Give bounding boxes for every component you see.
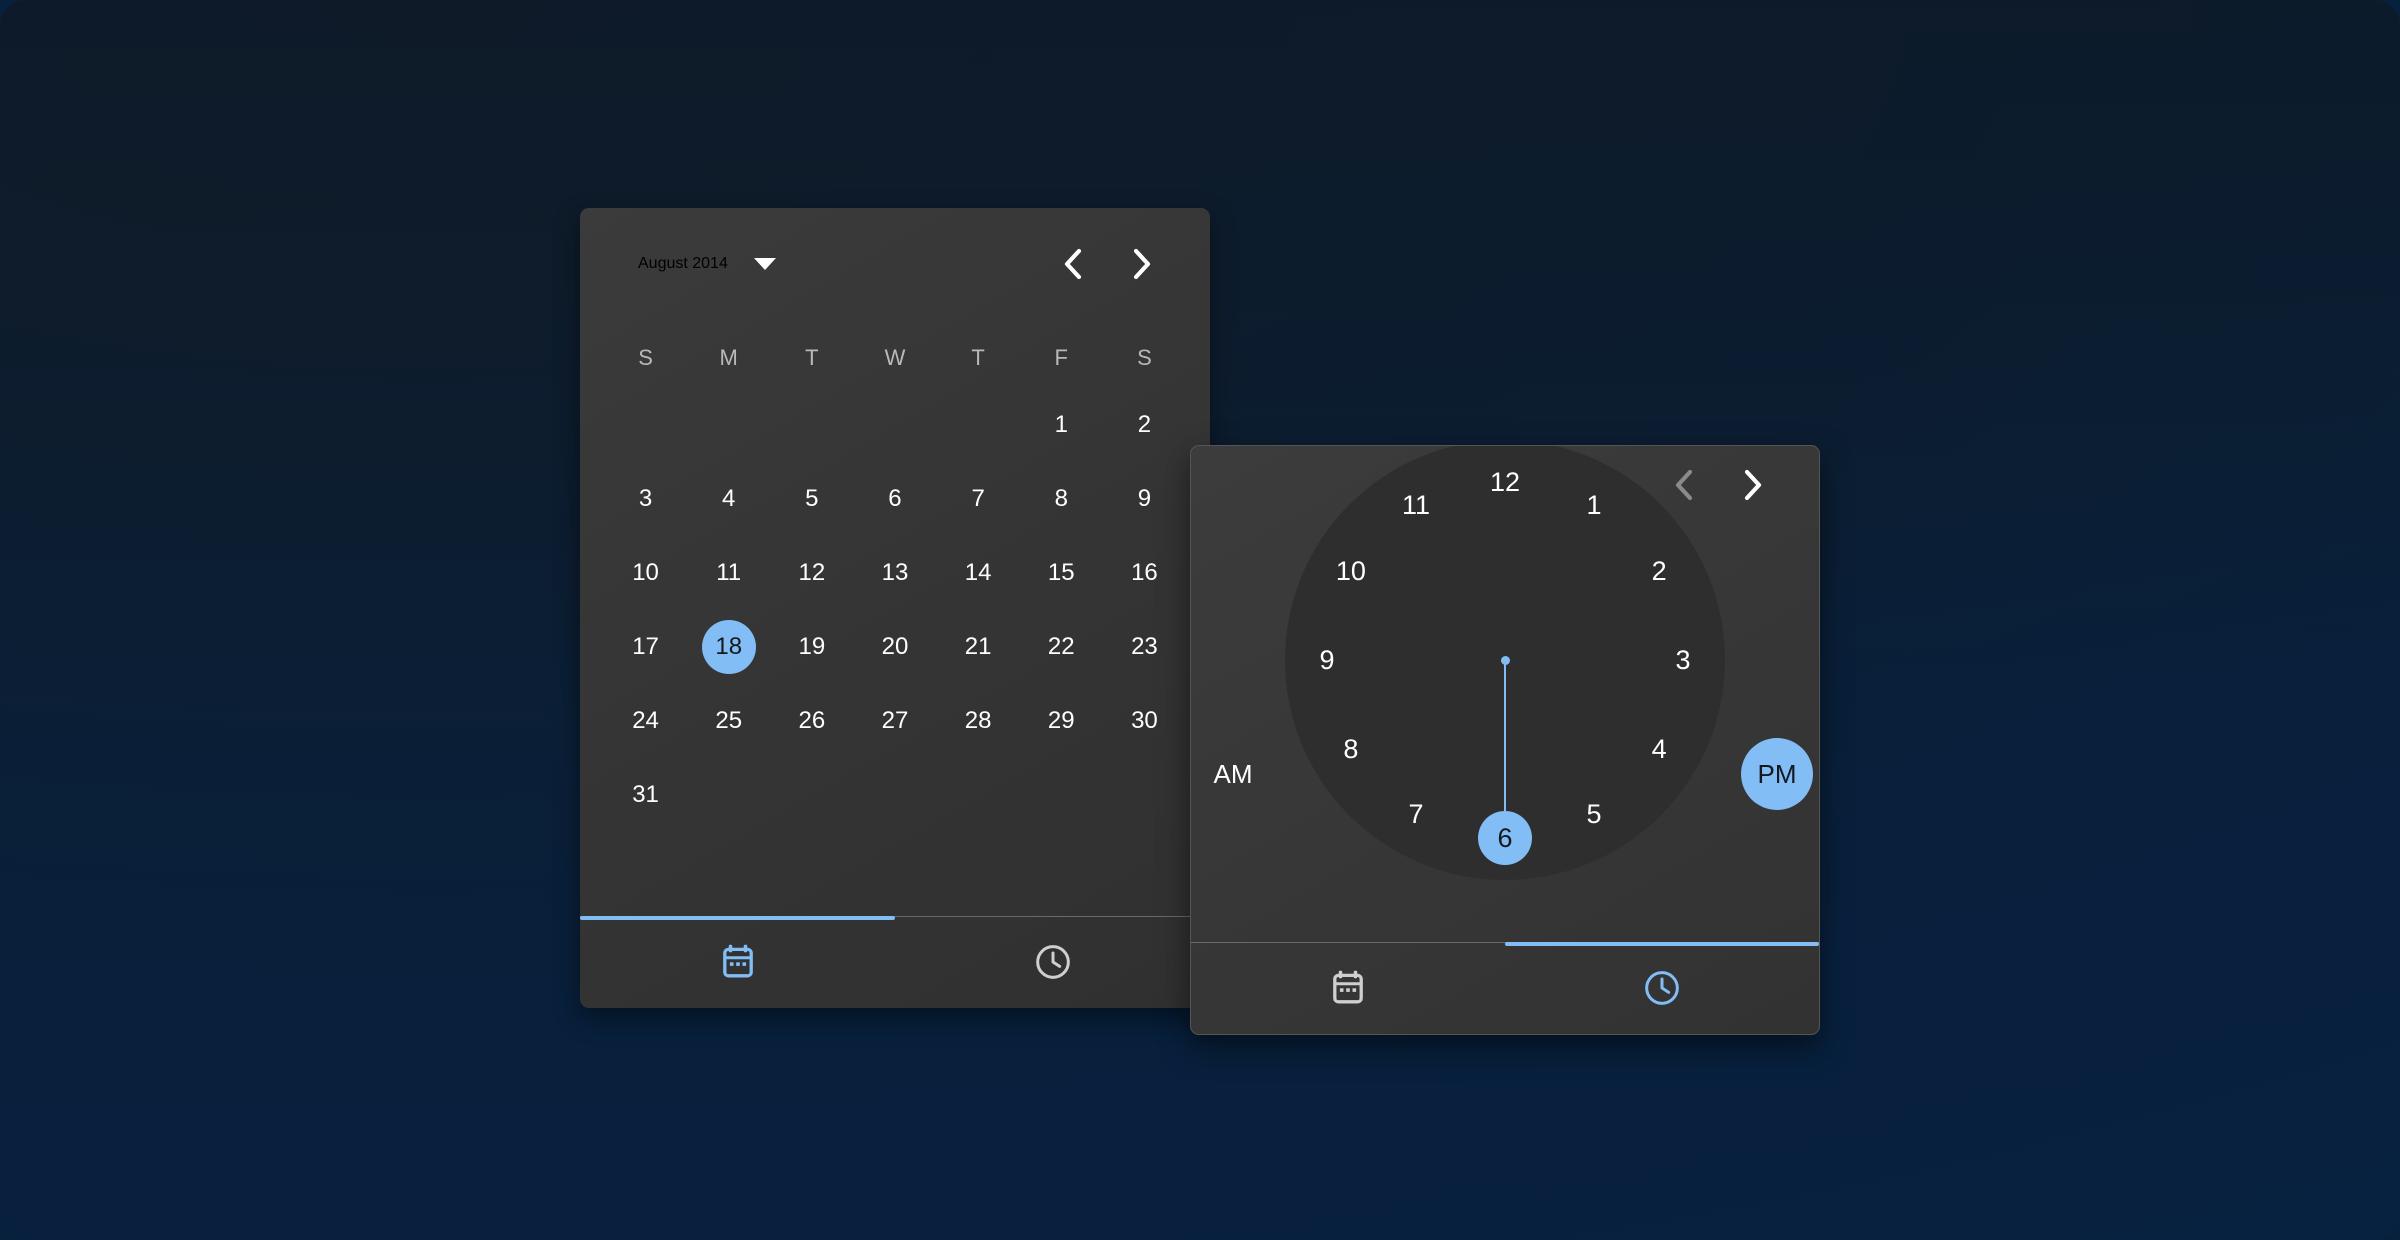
clock-icon bbox=[1642, 968, 1682, 1008]
date-picker-header: August 2014 bbox=[580, 208, 1210, 320]
calendar-day-empty bbox=[687, 388, 770, 462]
clock-hour-2[interactable]: 2 bbox=[1632, 544, 1686, 598]
clock-hour-5[interactable]: 5 bbox=[1567, 787, 1621, 841]
clock-hour-7[interactable]: 7 bbox=[1389, 787, 1443, 841]
calendar-day-label: 30 bbox=[1117, 694, 1171, 748]
calendar-day-label: 28 bbox=[951, 694, 1005, 748]
weekday-label-5: F bbox=[1020, 336, 1103, 380]
calendar-day-label: 22 bbox=[1034, 620, 1088, 674]
calendar-day[interactable]: 3 bbox=[604, 462, 687, 536]
calendar-day[interactable]: 25 bbox=[687, 684, 770, 758]
calendar-day-label: 29 bbox=[1034, 694, 1088, 748]
calendar-day-empty bbox=[853, 388, 936, 462]
clock-dial-area: 121234567891011 AM PM bbox=[1191, 446, 1819, 942]
calendar-day[interactable]: 28 bbox=[937, 684, 1020, 758]
calendar-day[interactable]: 12 bbox=[770, 536, 853, 610]
calendar-day[interactable]: 8 bbox=[1020, 462, 1103, 536]
calendar-day-label: 17 bbox=[619, 620, 673, 674]
calendar-icon bbox=[1330, 969, 1366, 1007]
calendar-day[interactable]: 31 bbox=[604, 758, 687, 832]
tab-time[interactable] bbox=[1505, 942, 1819, 1034]
tab-active-indicator bbox=[580, 916, 895, 920]
clock-hour-9[interactable]: 9 bbox=[1300, 633, 1354, 687]
calendar-day-empty bbox=[604, 388, 687, 462]
calendar-day-grid: 1234567891011121314151617181920212223242… bbox=[604, 388, 1186, 832]
calendar-day-label: 4 bbox=[702, 472, 756, 526]
calendar-day[interactable]: 14 bbox=[937, 536, 1020, 610]
am-button[interactable]: AM bbox=[1197, 738, 1269, 810]
calendar-day[interactable]: 22 bbox=[1020, 610, 1103, 684]
calendar-day-label: 21 bbox=[951, 620, 1005, 674]
pm-button[interactable]: PM bbox=[1741, 738, 1813, 810]
calendar-day[interactable]: 4 bbox=[687, 462, 770, 536]
calendar-day[interactable]: 24 bbox=[604, 684, 687, 758]
weekday-header-row: SMTWTFS bbox=[604, 336, 1186, 380]
weekday-label-3: W bbox=[853, 336, 936, 380]
month-year-label[interactable]: August 2014 bbox=[638, 255, 728, 273]
calendar-day-label: 31 bbox=[619, 768, 673, 822]
caret-down-icon[interactable] bbox=[754, 258, 776, 270]
clock-hour-1[interactable]: 1 bbox=[1567, 479, 1621, 533]
weekday-label-1: M bbox=[687, 336, 770, 380]
calendar-day-label: 1 bbox=[1034, 398, 1088, 452]
calendar-day[interactable]: 16 bbox=[1103, 536, 1186, 610]
chevron-right-icon bbox=[1740, 468, 1764, 502]
weekday-label-4: T bbox=[937, 336, 1020, 380]
calendar-day-label: 14 bbox=[951, 546, 1005, 600]
calendar-day-label: 8 bbox=[1034, 472, 1088, 526]
date-panel-tabbar bbox=[580, 916, 1210, 1008]
calendar-day[interactable]: 2 bbox=[1103, 388, 1186, 462]
calendar-day-label: 9 bbox=[1117, 472, 1171, 526]
calendar-day[interactable]: 5 bbox=[770, 462, 853, 536]
calendar-day[interactable]: 13 bbox=[853, 536, 936, 610]
calendar-day[interactable]: 20 bbox=[853, 610, 936, 684]
calendar-day-label: 18 bbox=[702, 620, 756, 674]
calendar-day[interactable]: 10 bbox=[604, 536, 687, 610]
calendar-day-label: 15 bbox=[1034, 546, 1088, 600]
calendar-day-label: 3 bbox=[619, 472, 673, 526]
calendar-day-label: 16 bbox=[1117, 546, 1171, 600]
calendar-day-label: 13 bbox=[868, 546, 922, 600]
am-label: AM bbox=[1214, 759, 1253, 790]
next-month-button[interactable] bbox=[1114, 237, 1168, 291]
calendar-day-label: 6 bbox=[868, 472, 922, 526]
calendar-day[interactable]: 7 bbox=[937, 462, 1020, 536]
calendar-day-empty bbox=[937, 388, 1020, 462]
calendar-day[interactable]: 9 bbox=[1103, 462, 1186, 536]
calendar-day[interactable]: 21 bbox=[937, 610, 1020, 684]
calendar-day-label: 27 bbox=[868, 694, 922, 748]
calendar-day[interactable]: 23 bbox=[1103, 610, 1186, 684]
calendar-day-label: 2 bbox=[1117, 398, 1171, 452]
clock-hour-12[interactable]: 12 bbox=[1478, 455, 1532, 509]
clock-hour-3[interactable]: 3 bbox=[1656, 633, 1710, 687]
calendar-day[interactable]: 26 bbox=[770, 684, 853, 758]
time-panel-tabbar bbox=[1191, 942, 1819, 1034]
tab-date[interactable] bbox=[1191, 942, 1505, 1034]
chevron-right-icon bbox=[1129, 247, 1153, 281]
tab-time[interactable] bbox=[895, 916, 1210, 1008]
calendar-day[interactable]: 17 bbox=[604, 610, 687, 684]
calendar-day-label: 24 bbox=[619, 694, 673, 748]
calendar-day-label: 12 bbox=[785, 546, 839, 600]
clock-hour-selected[interactable]: 6 bbox=[1478, 811, 1532, 865]
weekday-label-0: S bbox=[604, 336, 687, 380]
calendar-day-label: 5 bbox=[785, 472, 839, 526]
calendar-day[interactable]: 29 bbox=[1020, 684, 1103, 758]
clock-hand bbox=[1504, 660, 1506, 811]
calendar-day[interactable]: 30 bbox=[1103, 684, 1186, 758]
previous-month-button[interactable] bbox=[1046, 237, 1100, 291]
next-time-button[interactable] bbox=[1725, 458, 1779, 512]
weekday-label-2: T bbox=[770, 336, 853, 380]
calendar-day-label: 25 bbox=[702, 694, 756, 748]
calendar-day-selected[interactable]: 18 bbox=[687, 610, 770, 684]
clock-hour-8[interactable]: 8 bbox=[1324, 722, 1378, 776]
clock-hour-11[interactable]: 11 bbox=[1389, 479, 1443, 533]
calendar-day[interactable]: 11 bbox=[687, 536, 770, 610]
calendar-day-empty bbox=[770, 388, 853, 462]
chevron-left-icon bbox=[1672, 468, 1696, 502]
calendar-day-label: 26 bbox=[785, 694, 839, 748]
weekday-label-6: S bbox=[1103, 336, 1186, 380]
calendar-day-label: 20 bbox=[868, 620, 922, 674]
chevron-left-icon bbox=[1061, 247, 1085, 281]
time-picker-panel: 121234567891011 AM PM bbox=[1190, 445, 1820, 1035]
calendar-day[interactable]: 19 bbox=[770, 610, 853, 684]
date-picker-panel: August 2014 SMTWTFS 12345678910111213141… bbox=[580, 208, 1210, 1008]
clock-hour-10[interactable]: 10 bbox=[1324, 544, 1378, 598]
calendar-day-label: 19 bbox=[785, 620, 839, 674]
calendar-day-label: 7 bbox=[951, 472, 1005, 526]
calendar-icon bbox=[720, 943, 756, 981]
calendar-day[interactable]: 6 bbox=[853, 462, 936, 536]
clock-center-dot bbox=[1501, 656, 1510, 665]
calendar-day-label: 23 bbox=[1117, 620, 1171, 674]
calendar-day-label: 10 bbox=[619, 546, 673, 600]
calendar-day[interactable]: 1 bbox=[1020, 388, 1103, 462]
clock-icon bbox=[1033, 942, 1073, 982]
clock-hour-4[interactable]: 4 bbox=[1632, 722, 1686, 776]
calendar-day[interactable]: 15 bbox=[1020, 536, 1103, 610]
previous-time-button[interactable] bbox=[1657, 458, 1711, 512]
calendar-day-label: 11 bbox=[702, 546, 756, 600]
calendar-day[interactable]: 27 bbox=[853, 684, 936, 758]
tab-active-indicator bbox=[1505, 942, 1819, 946]
time-picker-header bbox=[1657, 458, 1779, 512]
pm-label: PM bbox=[1758, 759, 1797, 790]
tab-date[interactable] bbox=[580, 916, 895, 1008]
